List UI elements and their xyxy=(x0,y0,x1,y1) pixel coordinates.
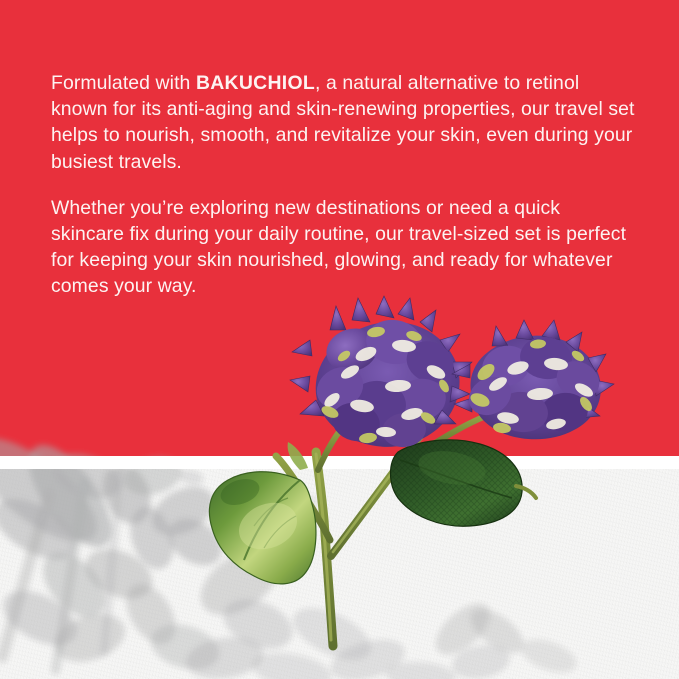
paragraph-one: Formulated with BAKUCHIOL, a natural alt… xyxy=(51,70,636,175)
white-divider-strip xyxy=(0,456,679,469)
product-description-banner: Formulated with BAKUCHIOL, a natural alt… xyxy=(0,0,679,679)
foliage-shadow-overlay xyxy=(0,466,679,679)
paragraph-one-lead: Formulated with xyxy=(51,72,196,94)
shadow-speck xyxy=(298,493,322,513)
shadow-speck xyxy=(250,469,279,495)
shadow-blob xyxy=(517,633,581,679)
shadow-speck xyxy=(177,467,205,486)
paragraph-two: Whether you’re exploring new destination… xyxy=(51,195,636,300)
ingredient-name-bakuchiol: BAKUCHIOL xyxy=(196,72,315,94)
description-copy-block: Formulated with BAKUCHIOL, a natural alt… xyxy=(51,70,636,300)
